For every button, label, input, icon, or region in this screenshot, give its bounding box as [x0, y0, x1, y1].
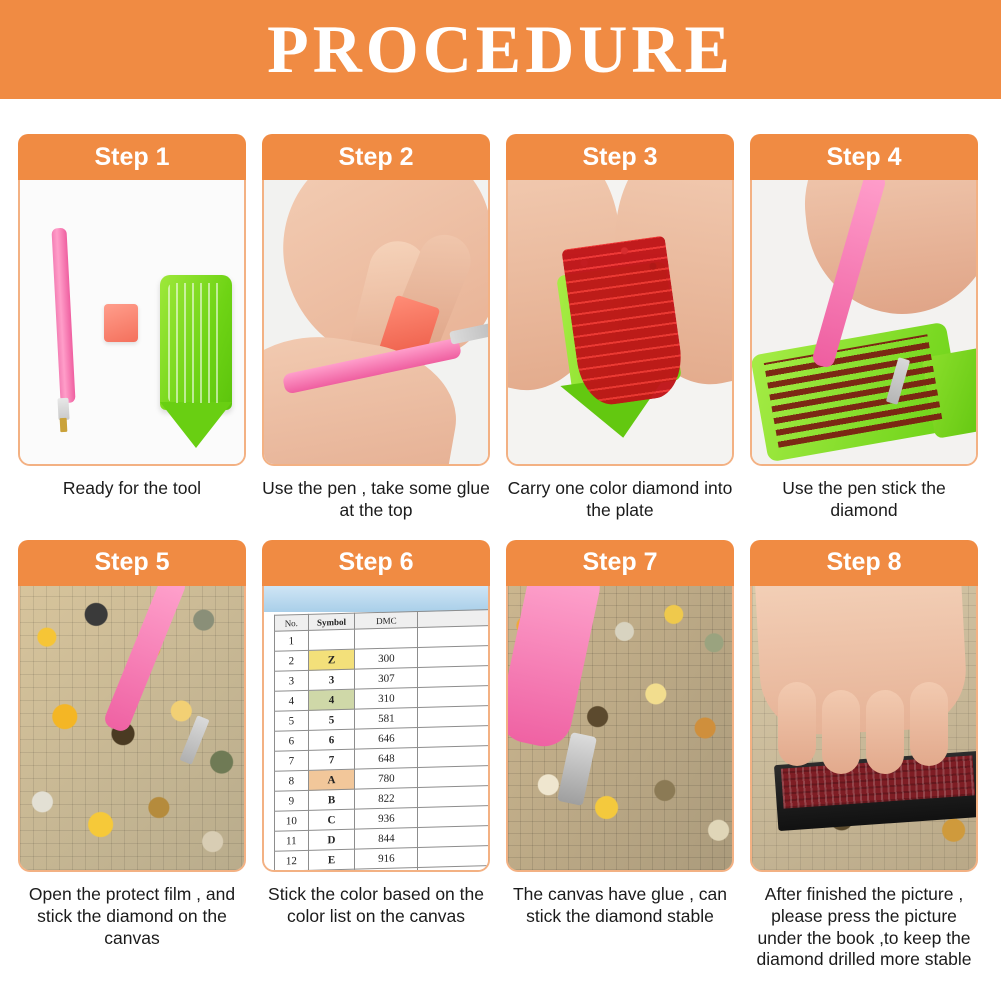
cell-no: 13 [275, 870, 309, 872]
finger-icon [778, 682, 816, 766]
cell-no: 6 [275, 730, 309, 751]
cell-blank [418, 625, 490, 647]
cell-dmc: 780 [355, 767, 418, 789]
step-card-4: Step 4 Use the pen stick the diamond [750, 134, 978, 522]
cell-no: 3 [275, 670, 309, 691]
cell-symbol: 6 [308, 729, 355, 750]
wax-icon [104, 304, 138, 342]
cell-symbol: F [308, 869, 355, 872]
step-badge-label-2: Step 2 [338, 143, 413, 172]
chart-header-strip [264, 586, 488, 612]
step-badge-5: Step 5 [18, 540, 246, 586]
cell-symbol: A [308, 769, 355, 790]
procedure-infographic: PROCEDURE Step 1 [0, 0, 1001, 1001]
step-badge-label-3: Step 3 [582, 143, 657, 172]
cell-symbol: Z [308, 649, 355, 670]
step-badge-7: Step 7 [506, 540, 734, 586]
color-chart-body: No. Symbol DMC 1 [275, 609, 490, 871]
steps-row-2: Step 5 Open the protect film , and stick… [0, 540, 1001, 972]
cell-blank [418, 805, 490, 827]
step-image-2 [262, 180, 490, 466]
cell-dmc: 581 [355, 707, 418, 729]
tray-grooves-icon [168, 283, 224, 403]
cell-blank [418, 665, 490, 687]
step-card-8: Step 8 After finished the picture , ple [750, 540, 978, 972]
step-badge-3: Step 3 [506, 134, 734, 180]
cell-no: 12 [275, 850, 309, 871]
step-badge-label-5: Step 5 [94, 548, 169, 577]
step-image-3 [506, 180, 734, 466]
cell-no: 7 [275, 750, 309, 771]
step-badge-1: Step 1 [18, 134, 246, 180]
finger-icon [866, 690, 904, 774]
step-card-5: Step 5 Open the protect film , and stick… [18, 540, 246, 972]
step-badge-4: Step 4 [750, 134, 978, 180]
step-card-1: Step 1 Ready for the tool [18, 134, 246, 522]
cell-dmc: 822 [355, 787, 418, 809]
cell-dmc: 844 [355, 827, 418, 849]
cell-blank [418, 765, 490, 787]
hand-icon [796, 180, 978, 323]
step-badge-6: Step 6 [262, 540, 490, 586]
step-card-2: Step 2 Use the pen , take some glue at t… [262, 134, 490, 522]
tray-point-icon [160, 402, 232, 448]
cell-dmc: 300 [355, 647, 418, 669]
sunflower-canvas-icon [20, 586, 244, 870]
cell-dmc: 646 [355, 727, 418, 749]
cell-symbol: C [308, 809, 355, 830]
cell-dmc: 648 [355, 747, 418, 769]
finger-icon [822, 690, 860, 774]
cell-dmc: 307 [355, 667, 418, 689]
cell-blank [418, 645, 490, 667]
cell-symbol: E [308, 849, 355, 870]
table-header-dmc: DMC [355, 611, 418, 629]
cell-no: 1 [275, 630, 309, 651]
pen-pick-diamond-illustration [752, 180, 976, 464]
step-caption-1: Ready for the tool [18, 478, 246, 500]
steps-grid: Step 1 Ready for the tool [0, 99, 1001, 971]
cell-no: 2 [275, 650, 309, 671]
step-image-5 [18, 586, 246, 872]
table-header-symbol: Symbol [308, 613, 355, 630]
cell-no: 8 [275, 770, 309, 791]
step-badge-label-1: Step 1 [94, 143, 169, 172]
cell-blank [418, 865, 490, 871]
cell-dmc [355, 627, 418, 649]
cell-no: 10 [275, 810, 309, 831]
step-caption-3: Carry one color diamond into the plate [506, 478, 734, 522]
step-caption-7: The canvas have glue , can stick the dia… [506, 884, 734, 928]
cell-no: 11 [275, 830, 309, 851]
pen-nib-icon [60, 418, 68, 432]
cell-no: 9 [275, 790, 309, 811]
color-chart-table: No. Symbol DMC 1 [274, 609, 490, 872]
diamonds-in-tray-illustration [508, 180, 732, 464]
step-image-8 [750, 586, 978, 872]
page-title: PROCEDURE [267, 15, 734, 83]
cell-dmc: 310 [355, 687, 418, 709]
steps-row-1: Step 1 Ready for the tool [0, 134, 1001, 522]
table-header-no: No. [275, 614, 309, 631]
step-caption-2: Use the pen , take some glue at the top [262, 478, 490, 522]
color-chart-illustration: No. Symbol DMC 1 [264, 586, 488, 870]
step-card-3: Step 3 Carry one color diamond into the … [506, 134, 734, 522]
cell-symbol: D [308, 829, 355, 850]
step-image-7 [506, 586, 734, 872]
step-badge-label-4: Step 4 [826, 143, 901, 172]
finger-icon [910, 682, 948, 766]
step-card-6: Step 6 No. Symbol DMC [262, 540, 490, 972]
step-badge-2: Step 2 [262, 134, 490, 180]
cell-blank [418, 845, 490, 867]
step-caption-6: Stick the color based on the color list … [262, 884, 490, 928]
cell-blank [418, 685, 490, 707]
step-badge-label-8: Step 8 [826, 548, 901, 577]
cell-symbol: B [308, 789, 355, 810]
color-chart-table-wrap: No. Symbol DMC 1 [274, 609, 484, 872]
cell-blank [418, 725, 490, 747]
cell-symbol: 3 [308, 669, 355, 690]
step-card-7: Step 7 The canvas have glue , can stick … [506, 540, 734, 972]
step-image-6: No. Symbol DMC 1 [262, 586, 490, 872]
cell-dmc: 916 [355, 847, 418, 869]
header-banner: PROCEDURE [0, 0, 1001, 99]
tool-set-illustration [20, 180, 244, 464]
step-image-1 [18, 180, 246, 466]
step-caption-8: After finished the picture , please pres… [750, 884, 978, 972]
step-image-4 [750, 180, 978, 466]
cell-symbol: 5 [308, 709, 355, 730]
pen-icon [51, 228, 75, 404]
cell-no: 4 [275, 690, 309, 711]
step-caption-5: Open the protect film , and stick the di… [18, 884, 246, 950]
cell-blank [418, 785, 490, 807]
cell-dmc: 938 [355, 867, 418, 872]
glue-pickup-illustration [264, 180, 488, 464]
step-caption-4: Use the pen stick the diamond [750, 478, 978, 522]
cell-blank [418, 705, 490, 727]
step-badge-label-7: Step 7 [582, 548, 657, 577]
step-badge-8: Step 8 [750, 540, 978, 586]
pen-tip-icon [57, 398, 69, 421]
press-book-illustration [752, 586, 976, 870]
cell-dmc: 936 [355, 807, 418, 829]
cell-blank [418, 825, 490, 847]
step-badge-label-6: Step 6 [338, 548, 413, 577]
cell-symbol [308, 629, 355, 650]
cell-symbol: 7 [308, 749, 355, 770]
cell-blank [418, 745, 490, 767]
cell-no: 5 [275, 710, 309, 731]
table-header-blank [418, 609, 490, 627]
cell-symbol: 4 [308, 689, 355, 710]
